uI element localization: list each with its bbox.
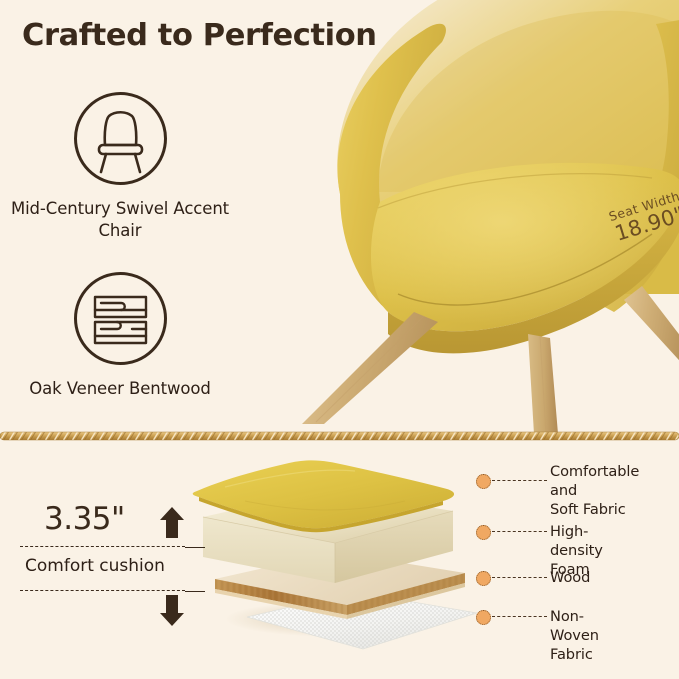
measure-rule-bottom	[20, 590, 185, 591]
feature-mid-century-chair: Mid-Century Swivel Accent Chair	[0, 92, 240, 242]
wood-veneer-icon	[74, 272, 167, 365]
bottom-section: 3.35" Comfort cushion	[0, 441, 679, 679]
feature-label: Oak Veneer Bentwood	[0, 378, 240, 400]
layer-stack-illustration	[185, 449, 515, 674]
arrow-up-icon	[159, 506, 185, 539]
infographic-page: Seat Width 18.90" Crafted to Perfection …	[0, 0, 679, 679]
callout-leader-line	[492, 531, 547, 532]
callout-dot-icon	[476, 474, 491, 489]
cushion-measurement-caption: Comfort cushion	[0, 556, 190, 576]
measure-rule-cap	[185, 547, 205, 548]
measure-rule-cap	[185, 591, 205, 592]
feature-label: Mid-Century Swivel Accent Chair	[0, 198, 240, 242]
callout-label: Wood	[550, 568, 590, 587]
page-title: Crafted to Perfection	[22, 18, 377, 53]
feature-oak-veneer-bentwood: Oak Veneer Bentwood	[0, 272, 240, 400]
chair-icon	[74, 92, 167, 185]
callout-dot-icon	[476, 610, 491, 625]
callout-dot-icon	[476, 571, 491, 586]
measure-rule-top	[20, 546, 185, 547]
cushion-measurement-value: 3.35"	[44, 501, 125, 537]
callout-leader-line	[492, 616, 547, 617]
callout-label: Comfortable and Soft Fabric	[550, 462, 639, 519]
callout-leader-line	[492, 577, 547, 578]
arrow-down-icon	[159, 594, 185, 627]
chair-photo: Seat Width 18.90"	[228, 0, 679, 432]
chair-illustration	[228, 0, 679, 432]
rope-divider	[0, 429, 679, 441]
callout-label: Non-Woven Fabric	[550, 607, 599, 664]
callout-leader-line	[492, 480, 547, 481]
top-section: Seat Width 18.90" Crafted to Perfection …	[0, 0, 679, 432]
callout-dot-icon	[476, 525, 491, 540]
